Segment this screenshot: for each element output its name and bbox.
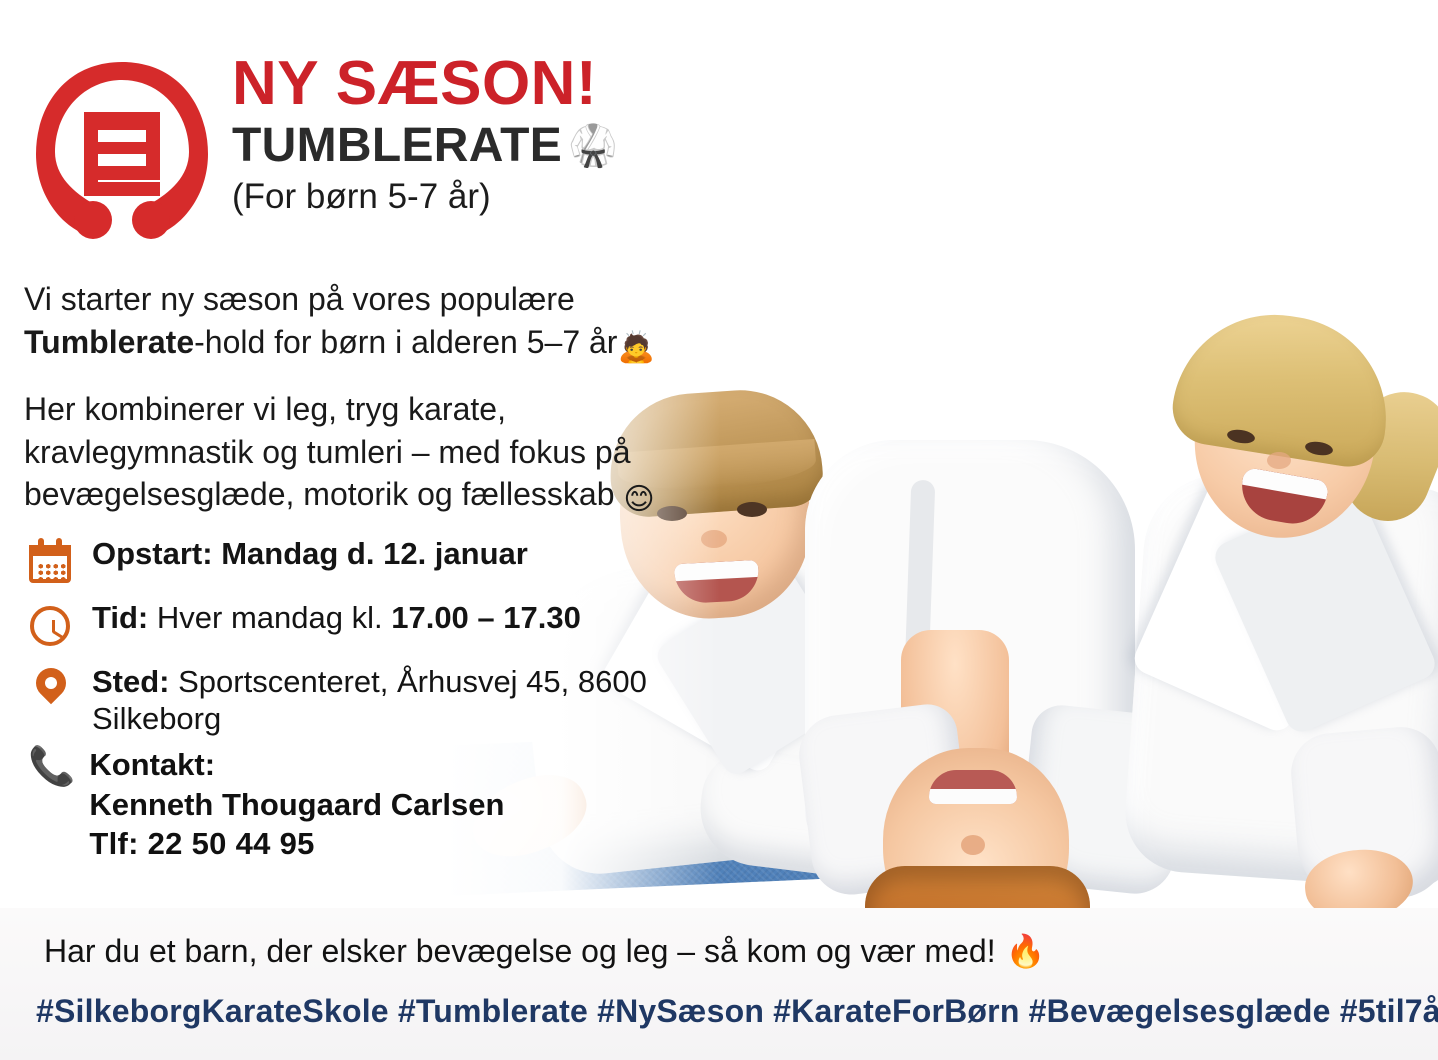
right-girl-nose [1267,452,1291,469]
detail-text-location: Sted: Sportscenteret, Århusvej 45, 8600 … [92,663,726,737]
contact-name: Kenneth Thougaard Carlsen [89,785,504,825]
martial-arts-kid-icon: 🥋 [568,126,618,166]
detail-label-time: Tid: [92,600,148,635]
subtitle: TUMBLERATE [232,121,562,171]
location-pin-icon [26,665,74,713]
detail-text-time: Tid: Hver mandag kl. 17.00 – 17.30 [92,599,581,636]
poster-footer: Har du et barn, der elsker bevægelse og … [0,908,1438,1060]
contact-head: 📞 Kontakt: Kenneth Thougaard Carlsen Tlf… [28,745,688,864]
poster-content: NY SÆSON! TUMBLERATE 🥋 (For børn 5-7 år)… [0,0,760,908]
intro-line-1: Vi starter ny sæson på vores populære [24,281,575,317]
intro-line-2: -hold for børn i alderen 5–7 år [194,324,617,360]
smiling-face-icon: 😊 [623,482,654,517]
page-title: NY SÆSON! [232,52,752,115]
middle-boy-hair [865,866,1090,908]
poster-header: NY SÆSON! TUMBLERATE 🥋 (For børn 5-7 år) [22,52,722,262]
calendar-icon [26,537,74,585]
silkeborg-karate-skole-logo [22,54,222,252]
detail-label-location: Sted: [92,664,170,699]
fire-icon: 🔥 [1006,935,1046,967]
footer-hashtags[interactable]: #SilkeborgKarateSkole #Tumblerate #NySæs… [36,992,1438,1030]
detail-value-start: Mandag d. 12. januar [221,536,528,571]
heading-block: NY SÆSON! TUMBLERATE 🥋 (For børn 5-7 år) [232,52,752,216]
middle-boy-mouth [929,770,1017,804]
footer-cta-text: Har du et barn, der elsker bevægelse og … [44,932,996,970]
detail-row-start-date: Opstart: Mandag d. 12. januar [26,535,726,585]
intro-paragraph-1: Vi starter ny sæson på vores populære Tu… [24,278,724,363]
detail-value-time-plain: Hver mandag kl. [157,600,383,635]
middle-boy-nose [961,835,985,855]
event-details: Opstart: Mandag d. 12. januar Tid: Hver … [26,535,726,751]
intro-bold-term: Tumblerate [24,324,194,360]
contact-phone[interactable]: Tlf: 22 50 44 95 [89,824,504,864]
person-bowing-icon: 🙇 [617,330,654,365]
poster-root: NY SÆSON! TUMBLERATE 🥋 (For børn 5-7 år)… [0,0,1438,1060]
detail-text-start-date: Opstart: Mandag d. 12. januar [92,535,528,572]
detail-row-location: Sted: Sportscenteret, Århusvej 45, 8600 … [26,663,726,737]
contact-block: 📞 Kontakt: Kenneth Thougaard Carlsen Tlf… [28,745,688,864]
intro-paragraph-2: Her kombinerer vi leg, tryg karate, krav… [24,388,724,516]
detail-value-time-range: 17.00 – 17.30 [391,600,581,635]
detail-row-time: Tid: Hver mandag kl. 17.00 – 17.30 [26,599,726,649]
detail-value-location: Sportscenteret, Århusvej 45, 8600 Silkeb… [92,664,647,736]
subtitle-row: TUMBLERATE 🥋 [232,121,752,171]
intro-paragraph-2-text: Her kombinerer vi leg, tryg karate, krav… [24,391,630,512]
clock-icon [26,601,74,649]
contact-heading: Kontakt: [89,745,504,785]
contact-lines: Kontakt: Kenneth Thougaard Carlsen Tlf: … [89,745,504,864]
footer-call-to-action: Har du et barn, der elsker bevægelse og … [44,932,1045,970]
detail-label-start: Opstart: [92,536,213,571]
age-note: (For børn 5-7 år) [232,178,752,217]
phone-icon: 📞 [28,747,75,785]
